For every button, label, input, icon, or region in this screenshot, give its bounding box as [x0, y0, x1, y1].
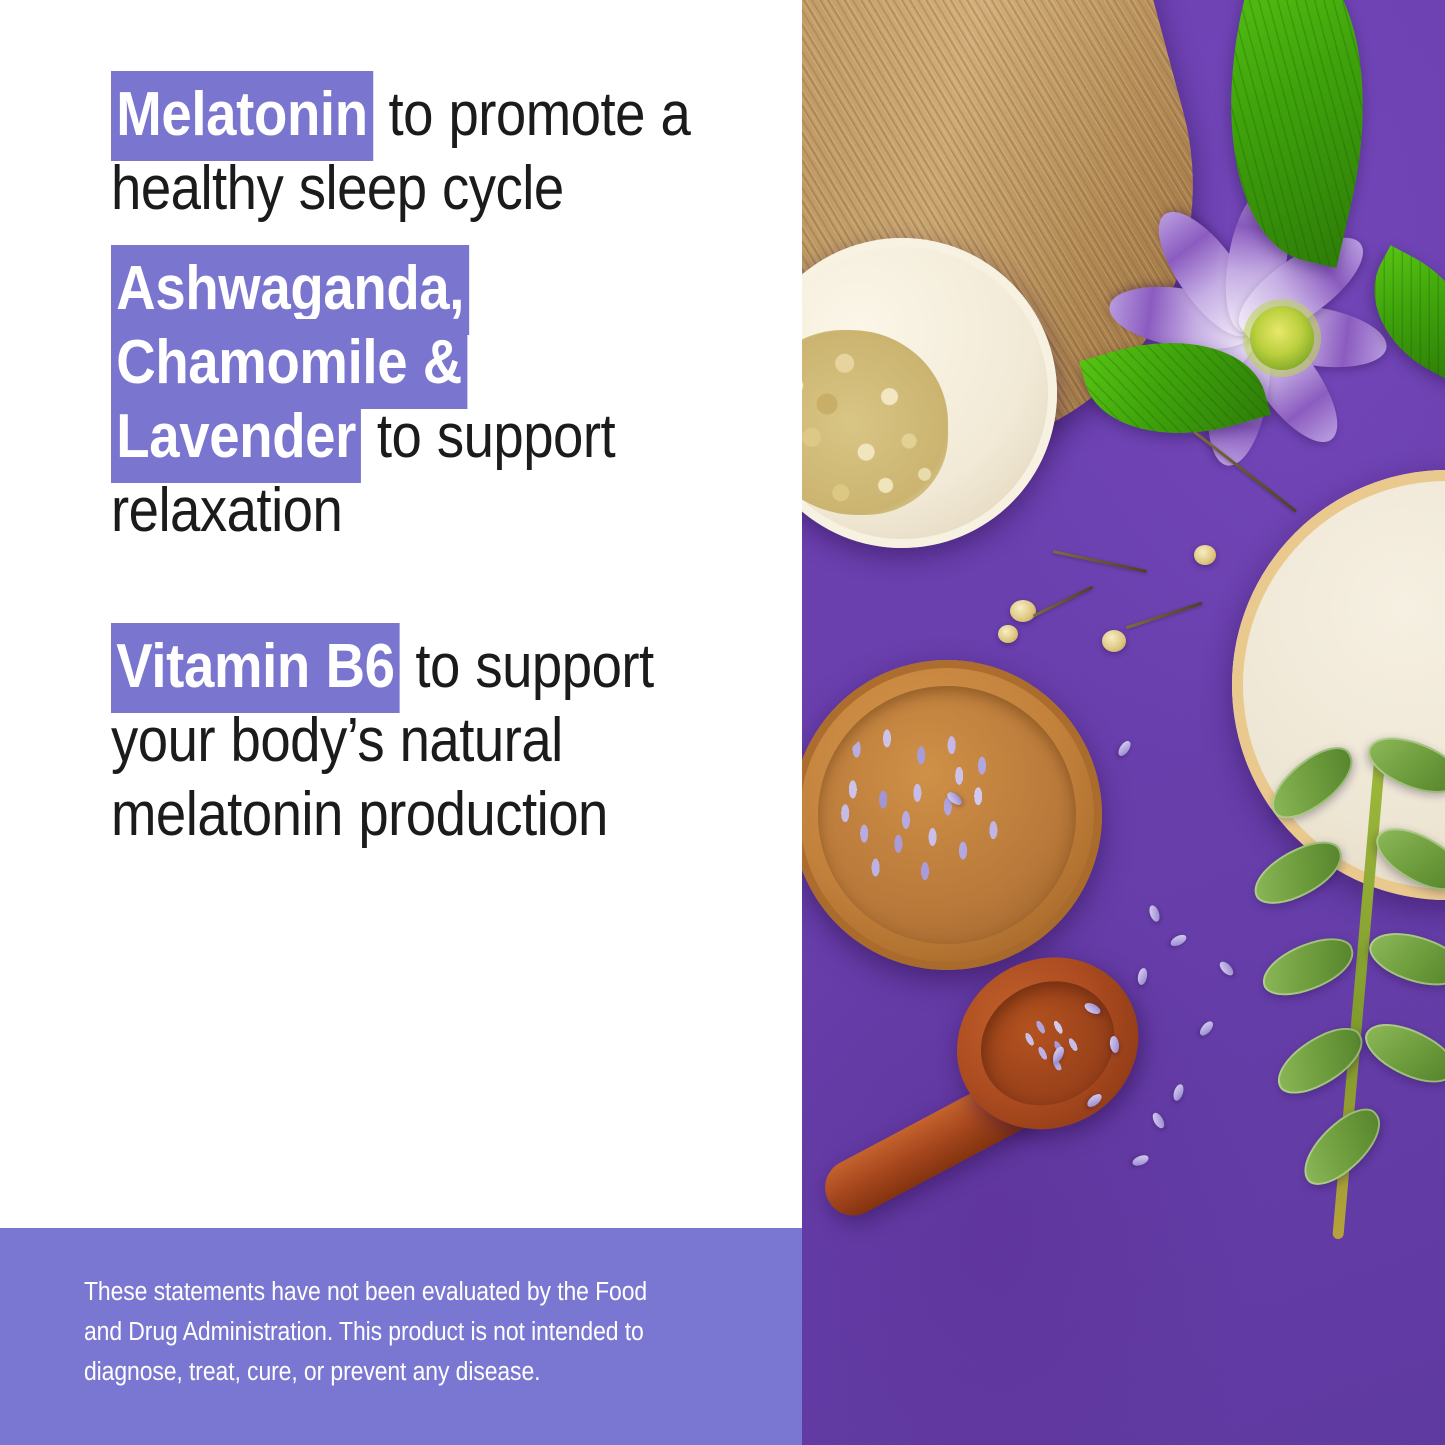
sage-leaf-icon	[1259, 737, 1364, 829]
disclaimer-band: These statements have not been evaluated…	[0, 1228, 802, 1445]
benefit-claim-herbs: Ashwaganda, Chamomile & Lavender to supp…	[111, 252, 692, 548]
sage-leaf-icon	[1245, 832, 1351, 913]
chamomile-bud-icon	[1194, 545, 1216, 565]
wooden-lavender-bowl-icon	[802, 660, 1102, 970]
sage-leaf-icon	[1255, 930, 1361, 1003]
benefit-claims-stack: Melatonin to promote a healthy sleep cyc…	[111, 78, 771, 852]
dried-lavender-pile-icon	[830, 718, 1020, 888]
chamomile-bud-icon	[998, 625, 1018, 643]
claim-highlight-vitamin-b6: Vitamin B6	[111, 623, 400, 713]
dried-chamomile-pile-icon	[802, 330, 948, 515]
claims-spacer	[111, 548, 771, 630]
sage-leaf-icon	[1363, 920, 1445, 999]
chamomile-bud-icon	[1010, 600, 1036, 622]
ingredient-photo	[802, 0, 1445, 1445]
claim-highlight-melatonin: Melatonin	[111, 71, 373, 161]
sage-sprig-icon	[1242, 700, 1445, 1260]
sage-leaf-icon	[1357, 1009, 1445, 1097]
promo-canvas: Melatonin to promote a healthy sleep cyc…	[0, 0, 1445, 1445]
flower-stamen-icon	[1250, 306, 1314, 370]
benefit-claim-melatonin: Melatonin to promote a healthy sleep cyc…	[111, 78, 692, 226]
spoon-lavender-buds-icon	[1012, 1004, 1093, 1083]
chamomile-bud-icon	[1102, 630, 1126, 652]
disclaimer-text: These statements have not been evaluated…	[84, 1272, 687, 1392]
benefit-claim-vitamin-b6: Vitamin B6 to support your body’s natura…	[111, 630, 692, 852]
